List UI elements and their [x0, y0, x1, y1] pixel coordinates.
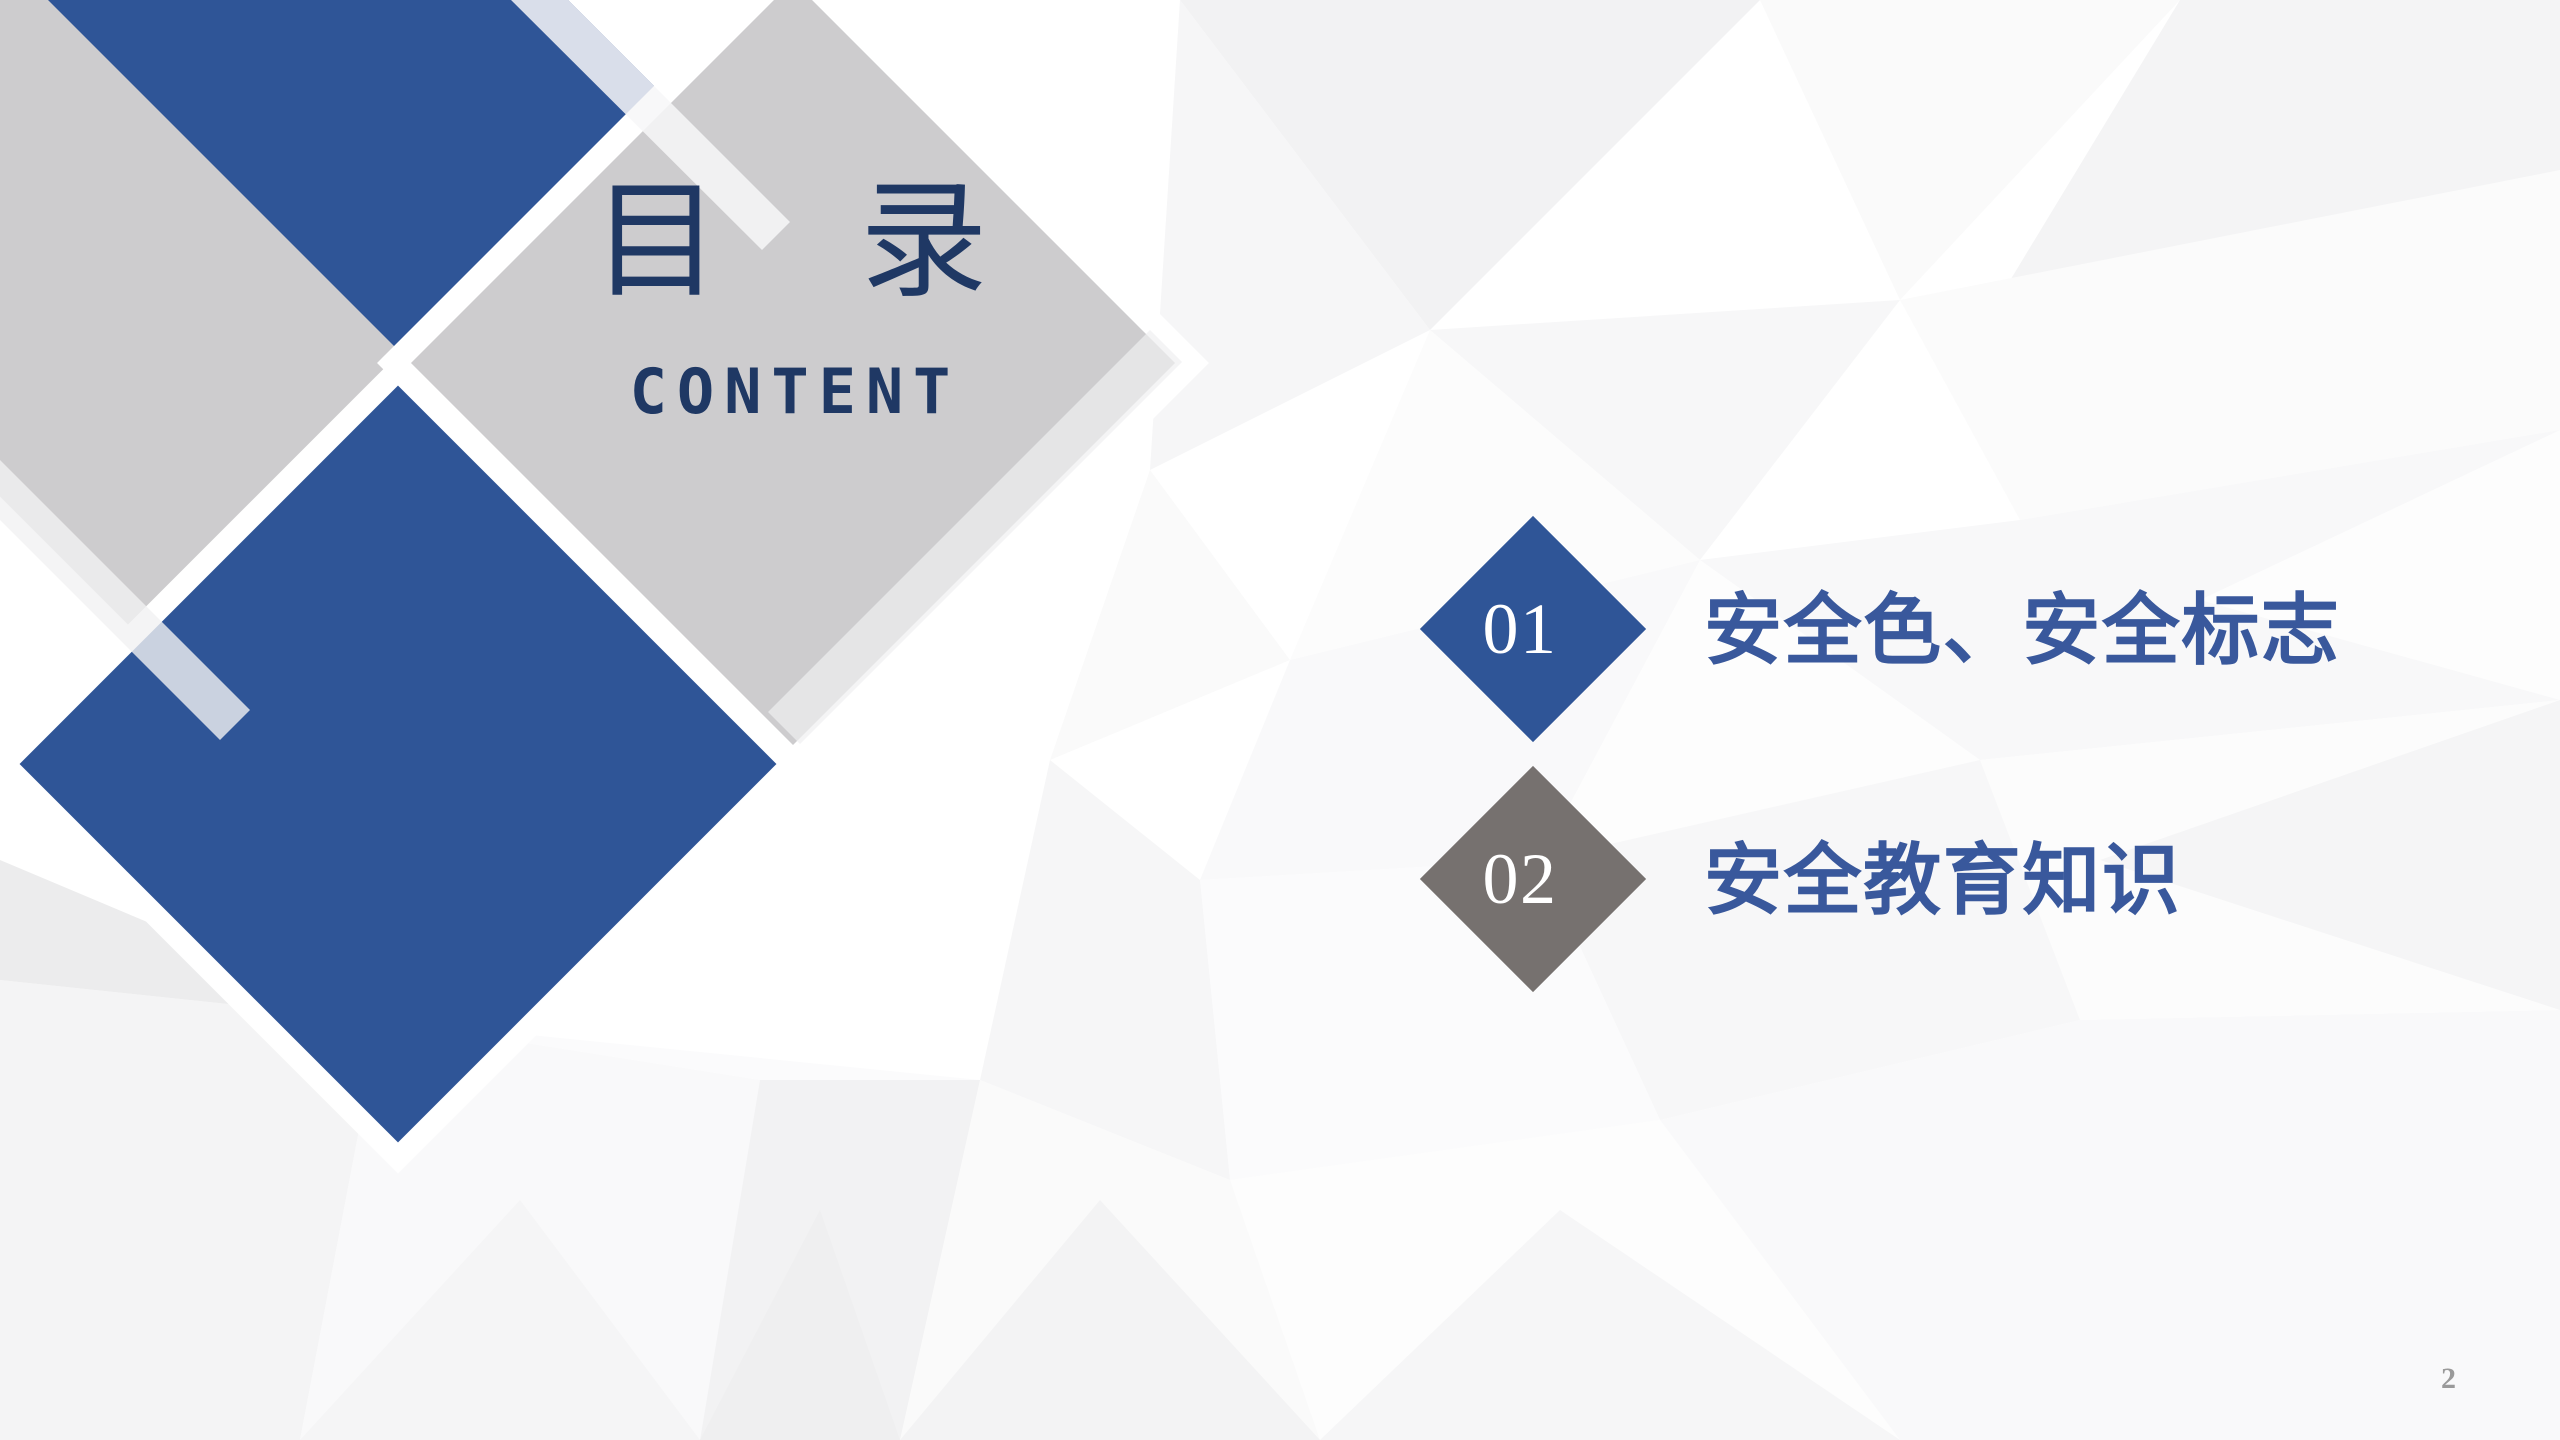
slide-canvas: 目 录 CONTENT 01 安全色、安全标志 02 安全教育知识 2	[0, 0, 2560, 1440]
agenda-number-01: 01	[1420, 516, 1646, 742]
agenda-item-02[interactable]: 02 安全教育知识	[1420, 766, 2480, 1016]
agenda-list: 01 安全色、安全标志 02 安全教育知识	[1420, 516, 2480, 1016]
agenda-item-01[interactable]: 01 安全色、安全标志	[1420, 516, 2480, 766]
agenda-number-02: 02	[1420, 766, 1646, 992]
agenda-label-01[interactable]: 安全色、安全标志	[1704, 568, 2340, 680]
agenda-label-02[interactable]: 安全教育知识	[1704, 818, 2181, 930]
agenda-number-badge-01[interactable]: 01	[1420, 516, 1646, 742]
page-number: 2	[2441, 1362, 2456, 1396]
agenda-number-badge-02[interactable]: 02	[1420, 766, 1646, 992]
decorative-diamond-cluster	[0, 0, 1300, 1300]
